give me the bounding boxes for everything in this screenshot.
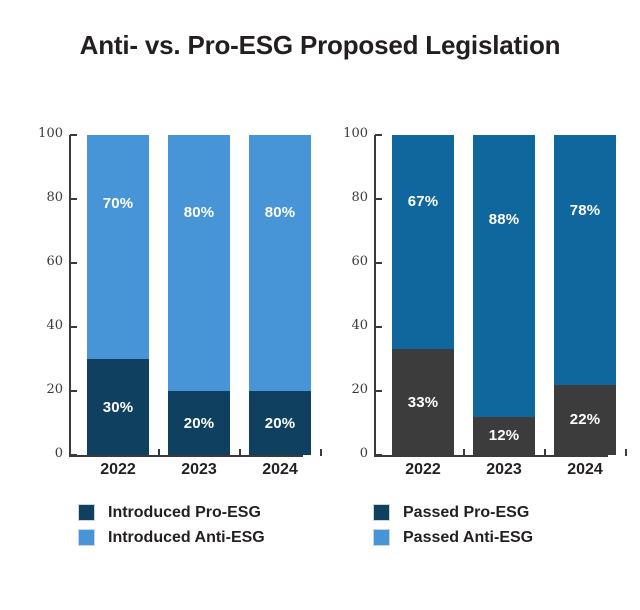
chart-panel-passed: 33%67%12%88%22%78% 020406080100202220232… <box>325 120 625 480</box>
bar-value-label: 20% <box>184 415 215 432</box>
x-axis-label-2024: 2024 <box>240 461 320 479</box>
y-axis-tick <box>375 134 382 136</box>
legend-swatch-icon <box>373 504 390 521</box>
y-axis-tick <box>70 134 77 136</box>
y-axis-tick <box>70 262 77 264</box>
bar-value-label: 20% <box>265 415 296 432</box>
y-axis-tick <box>70 326 77 328</box>
bar-segment[interactable]: 78% <box>554 135 616 385</box>
y-axis-tick <box>375 262 382 264</box>
bar-value-label: 33% <box>408 394 439 411</box>
y-axis-tick <box>70 198 77 200</box>
y-axis-tick-label: 80 <box>325 190 368 205</box>
bar-segment[interactable]: 30% <box>87 359 149 455</box>
y-axis-tick-label: 20 <box>20 382 63 397</box>
bar-segment[interactable]: 67% <box>392 135 454 349</box>
y-axis-tick <box>375 198 382 200</box>
legend-swatch-icon <box>373 529 390 546</box>
y-axis-tick-label: 0 <box>20 446 63 461</box>
bar-segment[interactable]: 20% <box>168 391 230 455</box>
y-axis-tick-label: 40 <box>325 318 368 333</box>
y-axis-tick-label: 80 <box>20 190 63 205</box>
legend-swatch-icon <box>78 529 95 546</box>
x-axis-tick <box>463 449 465 456</box>
bar-segment[interactable]: 80% <box>168 135 230 391</box>
x-axis-label-2022: 2022 <box>383 461 463 479</box>
x-axis-line <box>374 455 608 457</box>
y-axis-tick <box>70 454 77 456</box>
bar-group-2022[interactable]: 30%70% <box>87 135 149 455</box>
y-axis-tick <box>70 390 77 392</box>
bar-segment[interactable]: 20% <box>249 391 311 455</box>
legend-item[interactable]: Passed Anti-ESG <box>373 525 533 550</box>
page-title: Anti- vs. Pro-ESG Proposed Legislation <box>0 30 640 61</box>
bar-value-label: 12% <box>489 427 520 444</box>
plot-area-introduced: 30%70%20%80%20%80% <box>70 135 303 455</box>
x-axis-tick <box>320 449 322 456</box>
y-axis-tick-label: 40 <box>20 318 63 333</box>
bar-value-label: 88% <box>489 211 520 228</box>
legend-label: Passed Anti-ESG <box>403 529 533 547</box>
chart-panel-introduced: 30%70%20%80%20%80% 020406080100202220232… <box>20 120 320 480</box>
bar-group-2024[interactable]: 20%80% <box>249 135 311 455</box>
bar-group-2023[interactable]: 20%80% <box>168 135 230 455</box>
y-axis-tick-label: 100 <box>20 126 63 141</box>
legend-introduced: Introduced Pro-ESGIntroduced Anti-ESG <box>78 500 265 550</box>
bar-value-label: 30% <box>103 399 134 416</box>
y-axis-tick-label: 100 <box>325 126 368 141</box>
y-axis-tick <box>375 326 382 328</box>
bar-value-label: 78% <box>570 202 601 219</box>
bar-value-label: 22% <box>570 411 601 428</box>
bar-value-label: 70% <box>103 195 134 212</box>
x-axis-tick <box>625 449 627 456</box>
bar-segment[interactable]: 22% <box>554 385 616 455</box>
legend-label: Introduced Pro-ESG <box>108 504 261 522</box>
x-axis-label-2023: 2023 <box>464 461 544 479</box>
y-axis-tick <box>375 454 382 456</box>
x-axis-label-2023: 2023 <box>159 461 239 479</box>
y-axis-tick-label: 60 <box>20 254 63 269</box>
y-axis-tick-label: 0 <box>325 446 368 461</box>
bar-segment[interactable]: 70% <box>87 135 149 359</box>
legend-item[interactable]: Introduced Anti-ESG <box>78 525 265 550</box>
legend-label: Passed Pro-ESG <box>403 504 529 522</box>
x-axis-label-2022: 2022 <box>78 461 158 479</box>
x-axis-tick <box>544 449 546 456</box>
bar-group-2023[interactable]: 12%88% <box>473 135 535 455</box>
bar-segment[interactable]: 33% <box>392 349 454 455</box>
legend-passed: Passed Pro-ESGPassed Anti-ESG <box>373 500 533 550</box>
figure-canvas: Anti- vs. Pro-ESG Proposed Legislation 3… <box>0 0 640 610</box>
legend-item[interactable]: Passed Pro-ESG <box>373 500 533 525</box>
x-axis-line <box>69 455 303 457</box>
plot-area-passed: 33%67%12%88%22%78% <box>375 135 608 455</box>
bar-group-2024[interactable]: 22%78% <box>554 135 616 455</box>
y-axis-tick-label: 60 <box>325 254 368 269</box>
x-axis-label-2024: 2024 <box>545 461 625 479</box>
bar-group-2022[interactable]: 33%67% <box>392 135 454 455</box>
legend-label: Introduced Anti-ESG <box>108 529 265 547</box>
y-axis-tick-label: 20 <box>325 382 368 397</box>
bar-value-label: 80% <box>265 204 296 221</box>
bar-segment[interactable]: 12% <box>473 417 535 455</box>
x-axis-tick <box>239 449 241 456</box>
y-axis-tick <box>375 390 382 392</box>
bar-segment[interactable]: 88% <box>473 135 535 417</box>
x-axis-tick <box>158 449 160 456</box>
bar-value-label: 67% <box>408 193 439 210</box>
legend-item[interactable]: Introduced Pro-ESG <box>78 500 265 525</box>
bar-value-label: 80% <box>184 204 215 221</box>
legend-swatch-icon <box>78 504 95 521</box>
bar-segment[interactable]: 80% <box>249 135 311 391</box>
